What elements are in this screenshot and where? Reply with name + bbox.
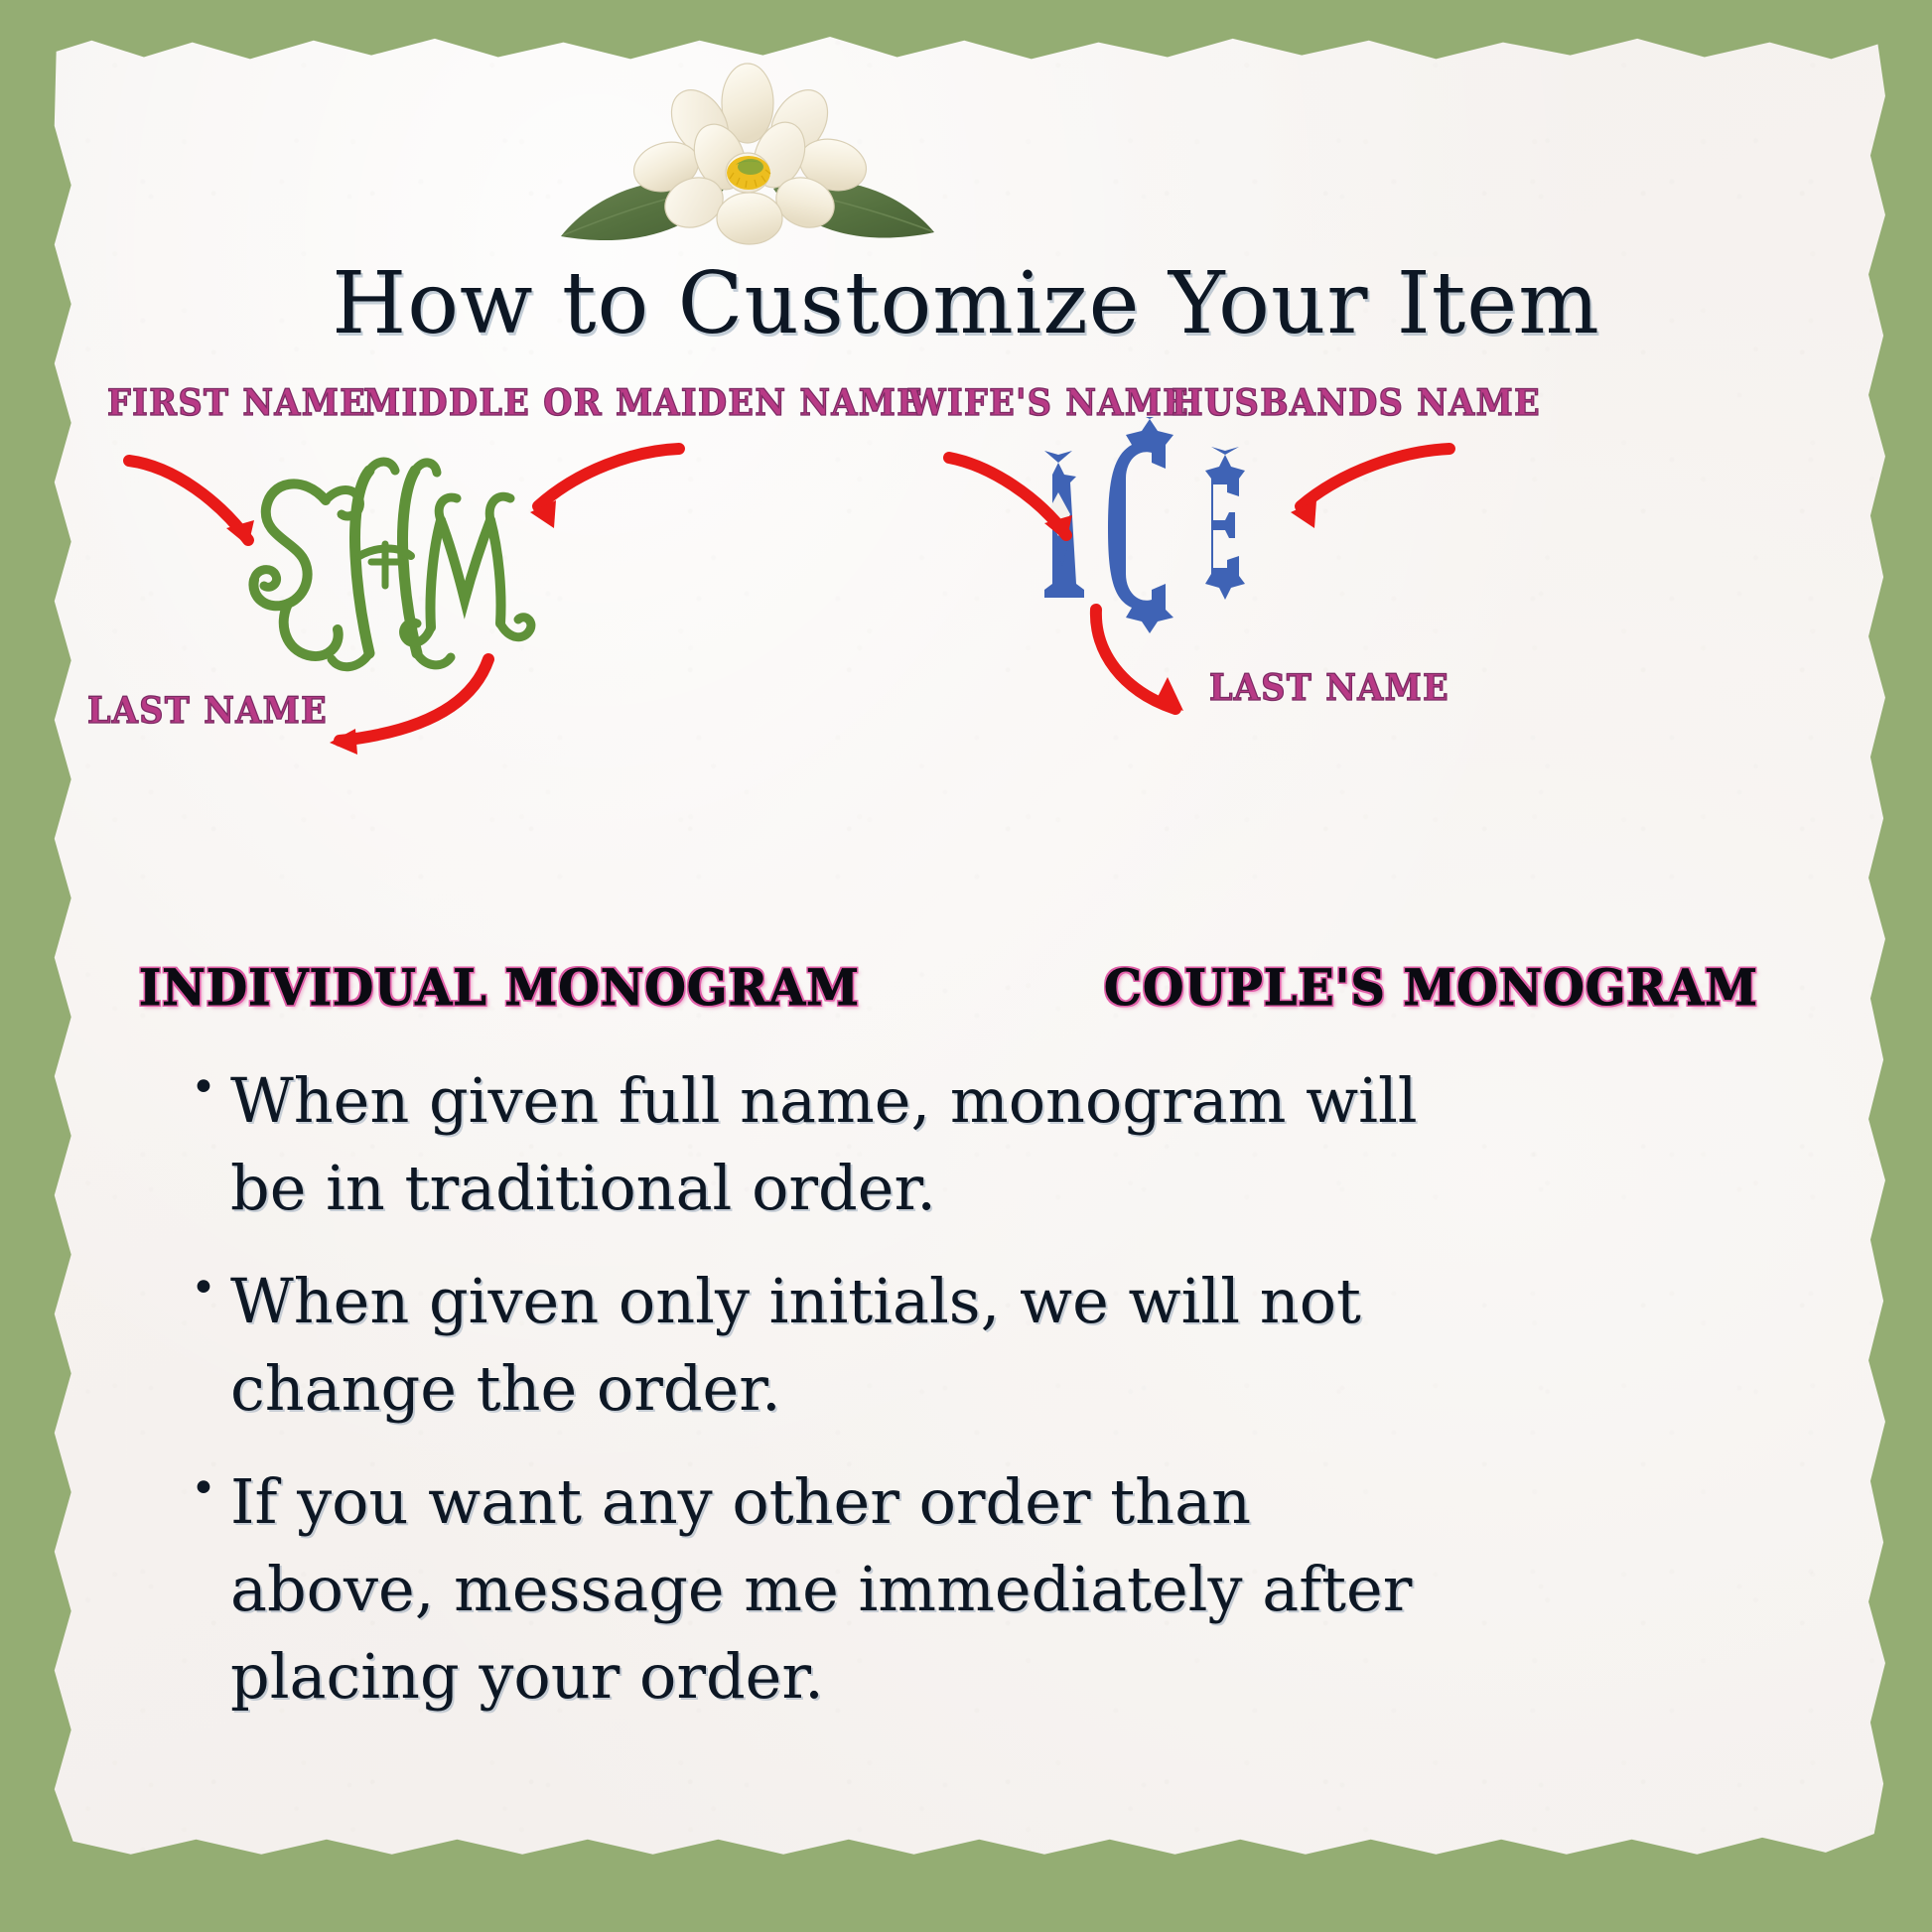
label-first-name: FIRST NAME (107, 382, 366, 424)
list-item: • If you want any other order than above… (185, 1458, 1733, 1721)
arrow-last-name-couple-icon (1088, 606, 1287, 735)
bullet-icon: • (185, 1458, 230, 1520)
arrow-last-name-individual-icon (308, 655, 496, 764)
note-text: If you want any other order than above, … (230, 1458, 1451, 1721)
arrow-husbands-name-icon (1277, 445, 1455, 544)
note-text: When given full name, monogram will be i… (230, 1057, 1451, 1232)
flower-center-icon (727, 156, 770, 190)
list-item: • When given full name, monogram will be… (185, 1057, 1733, 1232)
arrow-middle-name-icon (516, 445, 685, 544)
page-title: How to Customize Your Item (0, 254, 1932, 353)
bullet-icon: • (185, 1258, 230, 1319)
list-item: • When given only initials, we will not … (185, 1258, 1733, 1433)
poster-canvas: How to Customize Your Item FIRST NAME MI… (0, 0, 1932, 1932)
magnolia-flower-icon (549, 62, 946, 260)
notes-list: • When given full name, monogram will be… (185, 1057, 1733, 1746)
note-text: When given only initials, we will not ch… (230, 1258, 1451, 1433)
arrow-first-name-icon (123, 455, 282, 564)
bullet-icon: • (185, 1057, 230, 1119)
individual-monogram-caption: INDIVIDUAL MONOGRAM (139, 958, 860, 1017)
couple-monogram-caption: COUPLE'S MONOGRAM (1104, 958, 1758, 1017)
arrow-wifes-name-icon (943, 452, 1102, 561)
label-middle-or-maiden-name: MIDDLE OR MAIDEN NAME (363, 382, 923, 424)
label-last-name-individual: LAST NAME (87, 690, 328, 732)
